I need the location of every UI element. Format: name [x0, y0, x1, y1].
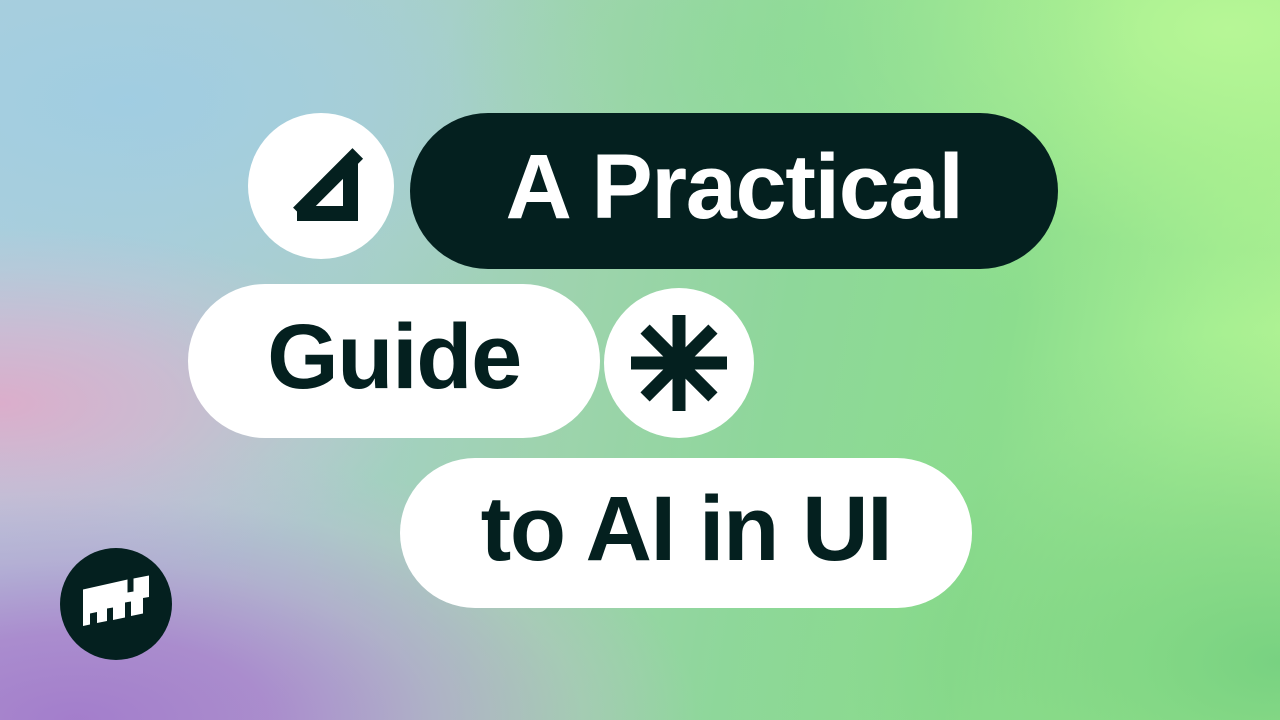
asterisk-star-icon-badge [604, 288, 754, 438]
brand-logo-badge[interactable] [60, 548, 172, 660]
arrow-down-right-icon-badge [248, 113, 394, 259]
headline-line-1: A Practical [410, 113, 1058, 269]
headline-line-1-text: A Practical [506, 141, 963, 233]
headline-line-2: Guide [188, 284, 600, 438]
headline-line-3-text: to AI in UI [481, 483, 892, 575]
headline-line-2-text: Guide [267, 311, 521, 403]
arrow-down-right-icon [275, 140, 367, 232]
asterisk-star-icon [629, 313, 729, 413]
poster-canvas: A Practical Guide to AI in UI [0, 0, 1280, 720]
headline-line-3: to AI in UI [400, 458, 972, 608]
brand-lightning-mark-icon [77, 569, 155, 639]
